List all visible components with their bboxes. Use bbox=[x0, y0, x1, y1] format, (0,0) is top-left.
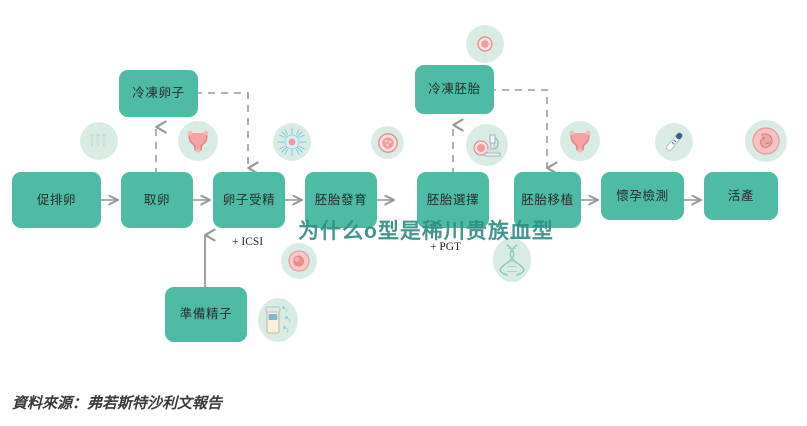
node-live-birth[interactable]: 活產 bbox=[704, 172, 778, 220]
diagram-canvas: 促排卵 取卵 卵子受精 胚胎發育 胚胎選擇 胚胎移植 懷孕檢測 活產 冷凍卵子 … bbox=[0, 0, 807, 426]
node-label: 胚胎選擇 bbox=[427, 193, 479, 208]
zygote-icon bbox=[281, 243, 317, 279]
pregnancy-test-stick-icon bbox=[655, 123, 693, 161]
node-egg-retrieval[interactable]: 取卵 bbox=[121, 172, 193, 228]
node-label: 胚胎發育 bbox=[315, 193, 367, 208]
node-pregnancy-test[interactable]: 懷孕檢測 bbox=[601, 172, 684, 220]
node-label: 冷凍胚胎 bbox=[428, 82, 480, 97]
node-frozen-embryo[interactable]: 冷凍胚胎 bbox=[415, 65, 494, 114]
node-sperm-preparation[interactable]: 準備精子 bbox=[165, 287, 247, 342]
uterus-icon bbox=[560, 121, 600, 161]
fetus-icon bbox=[745, 120, 787, 162]
uterus-icon bbox=[178, 121, 218, 161]
cryo-embryo-icon bbox=[466, 25, 504, 63]
dna-helix-icon bbox=[493, 238, 531, 282]
node-ovarian-stimulation[interactable]: 促排卵 bbox=[12, 172, 101, 228]
node-egg-fertilization[interactable]: 卵子受精 bbox=[213, 172, 285, 228]
node-embryo-transfer[interactable]: 胚胎移植 bbox=[514, 172, 581, 228]
node-label: 胚胎移植 bbox=[521, 193, 573, 208]
syringe-vials-icon bbox=[80, 122, 118, 160]
node-label: 促排卵 bbox=[37, 193, 76, 208]
node-label: 準備精子 bbox=[180, 307, 232, 322]
node-embryo-selection[interactable]: 胚胎選擇 bbox=[417, 172, 489, 228]
node-label: 懷孕檢測 bbox=[616, 189, 668, 204]
fertilized-egg-icon bbox=[273, 123, 311, 161]
node-embryo-development[interactable]: 胚胎發育 bbox=[305, 172, 377, 228]
microscope-icon bbox=[466, 124, 508, 166]
node-frozen-eggs[interactable]: 冷凍卵子 bbox=[119, 70, 198, 117]
annotation-icsi: + ICSI bbox=[232, 236, 263, 248]
node-label: 冷凍卵子 bbox=[132, 86, 184, 101]
node-label: 卵子受精 bbox=[223, 193, 275, 208]
embryo-cell-icon bbox=[371, 126, 404, 159]
node-label: 取卵 bbox=[144, 193, 170, 208]
node-label: 活產 bbox=[728, 189, 754, 204]
source-note: 資料來源：弗若斯特沙利文報告 bbox=[12, 392, 222, 413]
annotation-pgt: + PGT bbox=[430, 241, 461, 253]
sperm-sample-jar-icon bbox=[258, 298, 298, 342]
